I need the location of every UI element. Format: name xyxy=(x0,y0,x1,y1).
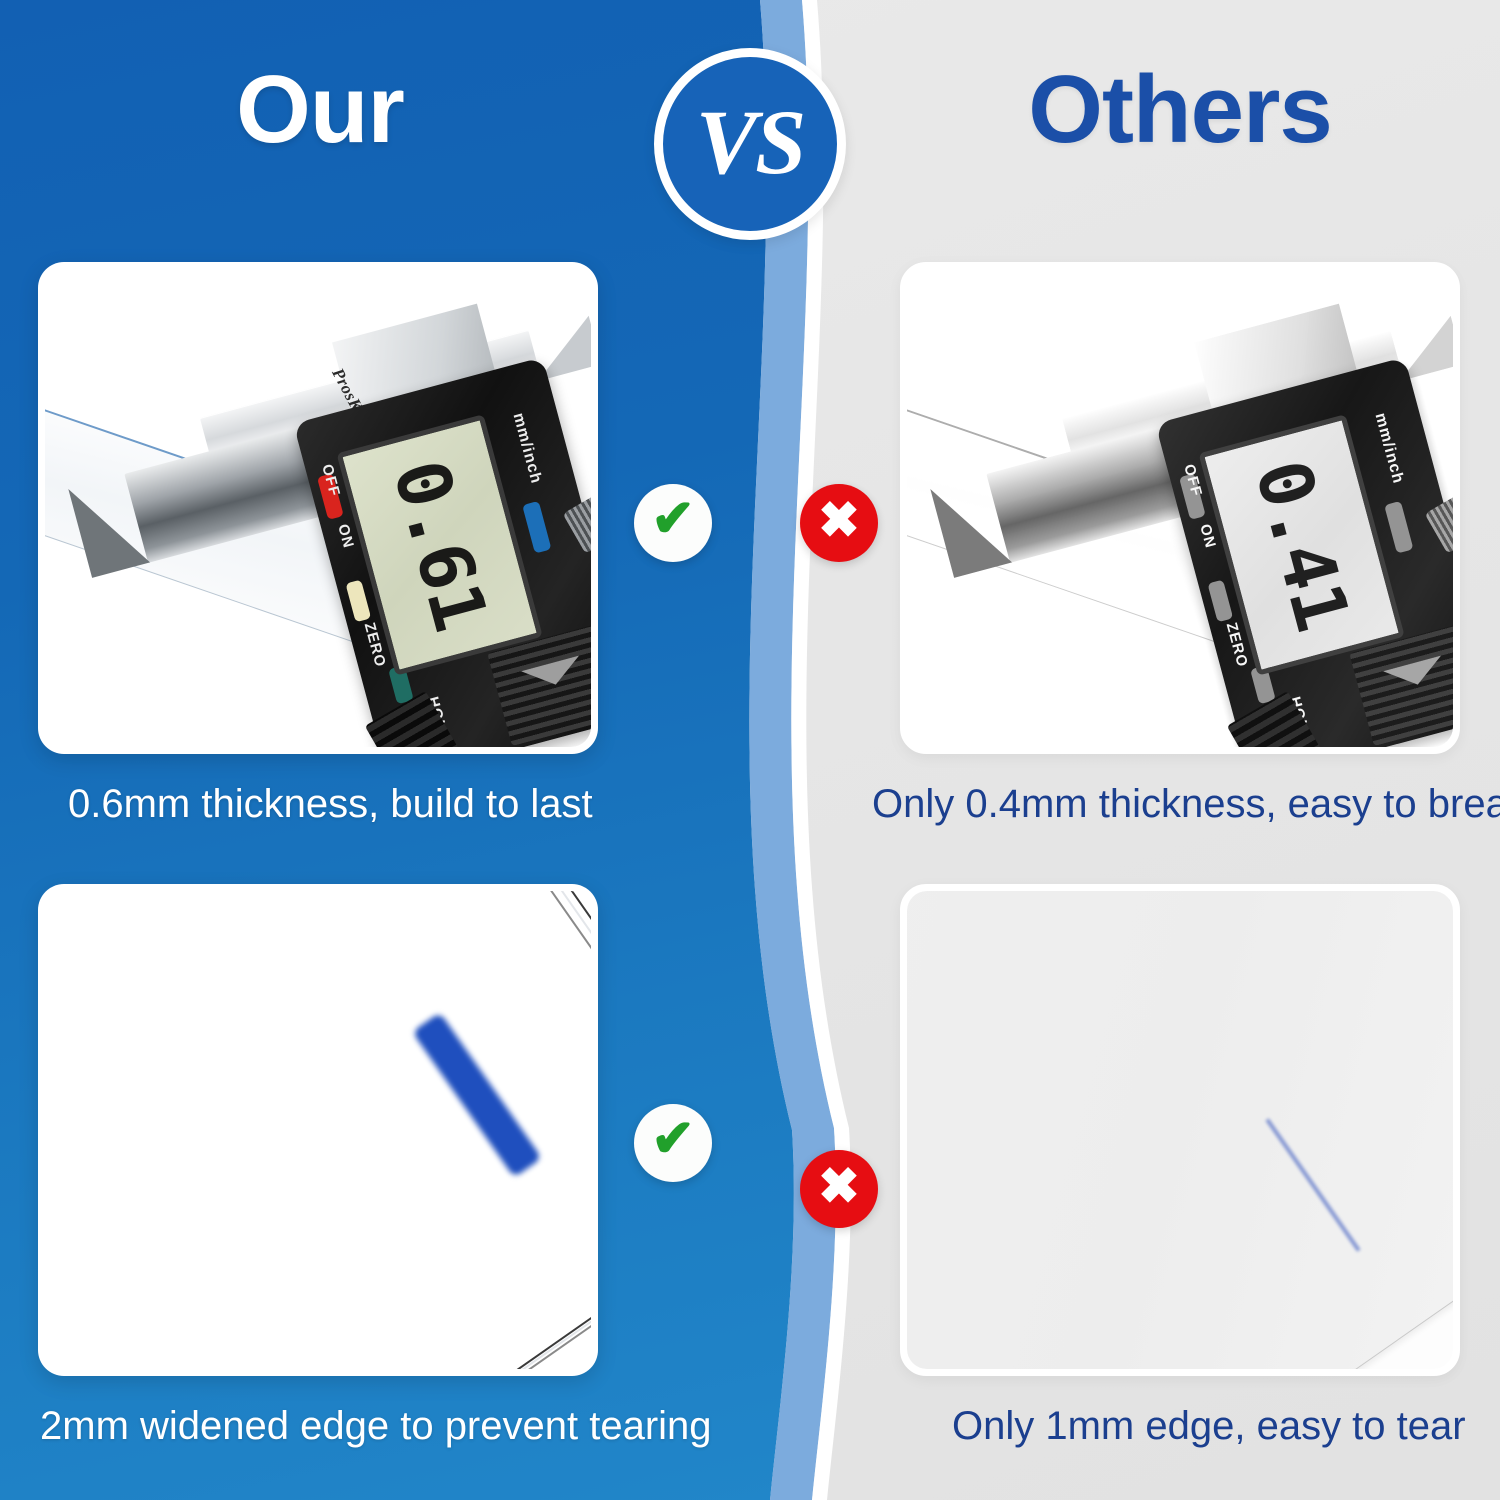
card-others-edge-image xyxy=(907,891,1453,1369)
card-our-edge-image xyxy=(45,891,591,1369)
on-label: ON xyxy=(1196,522,1219,550)
lcd-reading: 0.41 xyxy=(1238,452,1365,639)
caliper-thumbwheel[interactable] xyxy=(1425,491,1453,554)
card-our-thickness-image: ProsKit OFF ON ZERO HOLD mm/inch 0.61 mm xyxy=(45,269,591,747)
caliper-illustration-others: OFF ON ZERO HOLD mm/inch 0.41 mm xyxy=(907,269,1453,747)
cross-icon-edge: ✖ xyxy=(800,1150,878,1228)
vs-badge: VS xyxy=(654,48,846,240)
check-glyph: ✔ xyxy=(651,1113,695,1165)
caliper-illustration-our: ProsKit OFF ON ZERO HOLD mm/inch 0.61 mm xyxy=(45,269,591,747)
lcd-unit: mm xyxy=(524,596,543,625)
page-title-our: Our xyxy=(0,62,640,158)
cross-glyph: ✖ xyxy=(818,1161,860,1211)
check-icon-edge: ✔ xyxy=(634,1104,712,1182)
caliper-screw-row xyxy=(365,691,466,747)
vs-label: VS xyxy=(696,96,805,188)
cross-glyph: ✖ xyxy=(818,495,860,545)
glass-corner-illustration-others xyxy=(907,891,1453,1369)
glass-panel-flat xyxy=(907,891,1453,1369)
lcd-unit: mm xyxy=(1386,596,1405,625)
zero-button-led[interactable] xyxy=(1207,580,1233,623)
caption-our-thickness: 0.6mm thickness, build to last xyxy=(68,782,593,826)
check-icon-thickness: ✔ xyxy=(634,484,712,562)
caliper-screw-row xyxy=(1227,691,1328,747)
mm-inch-label: mm/inch xyxy=(509,411,545,486)
caliper-thumbwheel[interactable] xyxy=(563,491,591,554)
caliper-body: OFF ON ZERO HOLD mm/inch 0.61 mm xyxy=(293,357,591,747)
lcd-reading: 0.61 xyxy=(376,452,503,639)
mm-inch-button-led[interactable] xyxy=(1384,501,1413,554)
page-title-others: Others xyxy=(860,62,1500,158)
caliper-body: OFF ON ZERO HOLD mm/inch 0.41 mm xyxy=(1155,357,1453,747)
caption-others-edge: Only 1mm edge, easy to tear xyxy=(952,1404,1466,1448)
mm-inch-label: mm/inch xyxy=(1371,411,1407,486)
caption-our-edge: 2mm widened edge to prevent tearing xyxy=(40,1404,712,1448)
zero-button-led[interactable] xyxy=(345,580,371,623)
card-others-thickness: OFF ON ZERO HOLD mm/inch 0.41 mm xyxy=(900,262,1460,754)
mm-inch-button-led[interactable] xyxy=(522,501,551,554)
cross-icon-thickness: ✖ xyxy=(800,484,878,562)
card-others-thickness-image: OFF ON ZERO HOLD mm/inch 0.41 mm xyxy=(907,269,1453,747)
glass-corner-illustration-our xyxy=(45,891,591,1369)
check-glyph: ✔ xyxy=(651,493,695,545)
card-our-edge xyxy=(38,884,598,1376)
on-label: ON xyxy=(334,522,357,550)
card-our-thickness: ProsKit OFF ON ZERO HOLD mm/inch 0.61 mm xyxy=(38,262,598,754)
caption-others-thickness: Only 0.4mm thickness, easy to break xyxy=(872,782,1500,826)
infographic-stage: Our Others VS ProsKit OFF ON ZERO xyxy=(0,0,1500,1500)
card-others-edge xyxy=(900,884,1460,1376)
